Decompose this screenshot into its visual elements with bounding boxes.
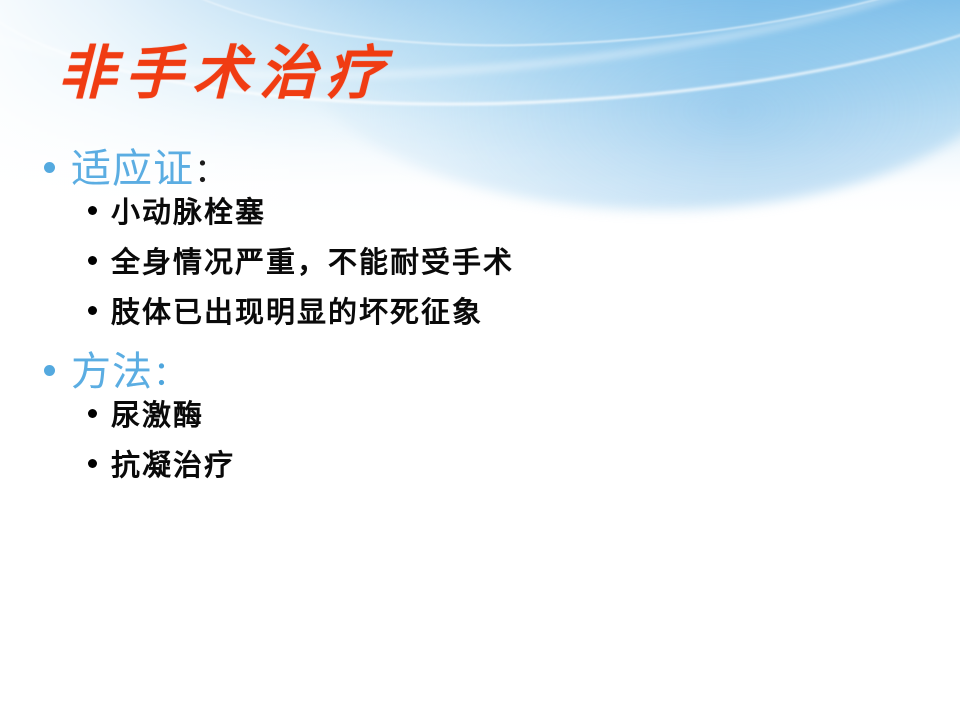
outline-group-methods: 方法： 尿激酶 抗凝治疗 xyxy=(44,351,924,482)
outline-level1-colon: ： xyxy=(153,354,187,394)
outline-level1-label-wrap: 方法： xyxy=(71,351,187,394)
list-item: 尿激酶 xyxy=(44,400,924,432)
bullet-dot-icon xyxy=(88,256,97,265)
bullet-dot-icon xyxy=(88,306,97,315)
outline-sublist-methods: 尿激酶 抗凝治疗 xyxy=(44,400,924,482)
outline-level1-indications: 适应证： xyxy=(44,148,924,191)
outline-group-indications: 适应证： 小动脉栓塞 全身情况严重，不能耐受手术 肢体已出现明显的坏死征象 xyxy=(44,148,924,329)
list-item-label: 尿激酶 xyxy=(111,400,204,432)
outline-level1-label: 方法 xyxy=(71,349,153,395)
bullet-dot-icon xyxy=(88,409,97,418)
list-item: 小动脉栓塞 xyxy=(44,197,924,229)
outline-level1-label: 适应证 xyxy=(71,146,194,192)
bullet-dot-icon xyxy=(88,459,97,468)
bullet-dot-icon xyxy=(88,206,97,215)
outline-level1-methods: 方法： xyxy=(44,351,924,394)
slide-title: 非手术治疗 xyxy=(58,44,393,102)
outline-level1-colon: ： xyxy=(194,151,228,191)
list-item-label: 小动脉栓塞 xyxy=(111,197,266,229)
outline-level1-label-wrap: 适应证： xyxy=(71,148,228,191)
list-item-label: 抗凝治疗 xyxy=(111,450,235,482)
slide-body: 适应证： 小动脉栓塞 全身情况严重，不能耐受手术 肢体已出现明显的坏死征象 xyxy=(44,148,924,492)
list-item: 全身情况严重，不能耐受手术 xyxy=(44,247,924,279)
list-item: 抗凝治疗 xyxy=(44,450,924,482)
list-item-label: 肢体已出现明显的坏死征象 xyxy=(111,297,483,329)
list-item: 肢体已出现明显的坏死征象 xyxy=(44,297,924,329)
bullet-dot-icon xyxy=(44,162,55,173)
outline-sublist-indications: 小动脉栓塞 全身情况严重，不能耐受手术 肢体已出现明显的坏死征象 xyxy=(44,197,924,329)
bullet-dot-icon xyxy=(44,365,55,376)
list-item-label: 全身情况严重，不能耐受手术 xyxy=(111,247,514,279)
slide: 非手术治疗 适应证： 小动脉栓塞 全身情况严重，不能耐受手术 肢体已出现 xyxy=(0,0,960,720)
